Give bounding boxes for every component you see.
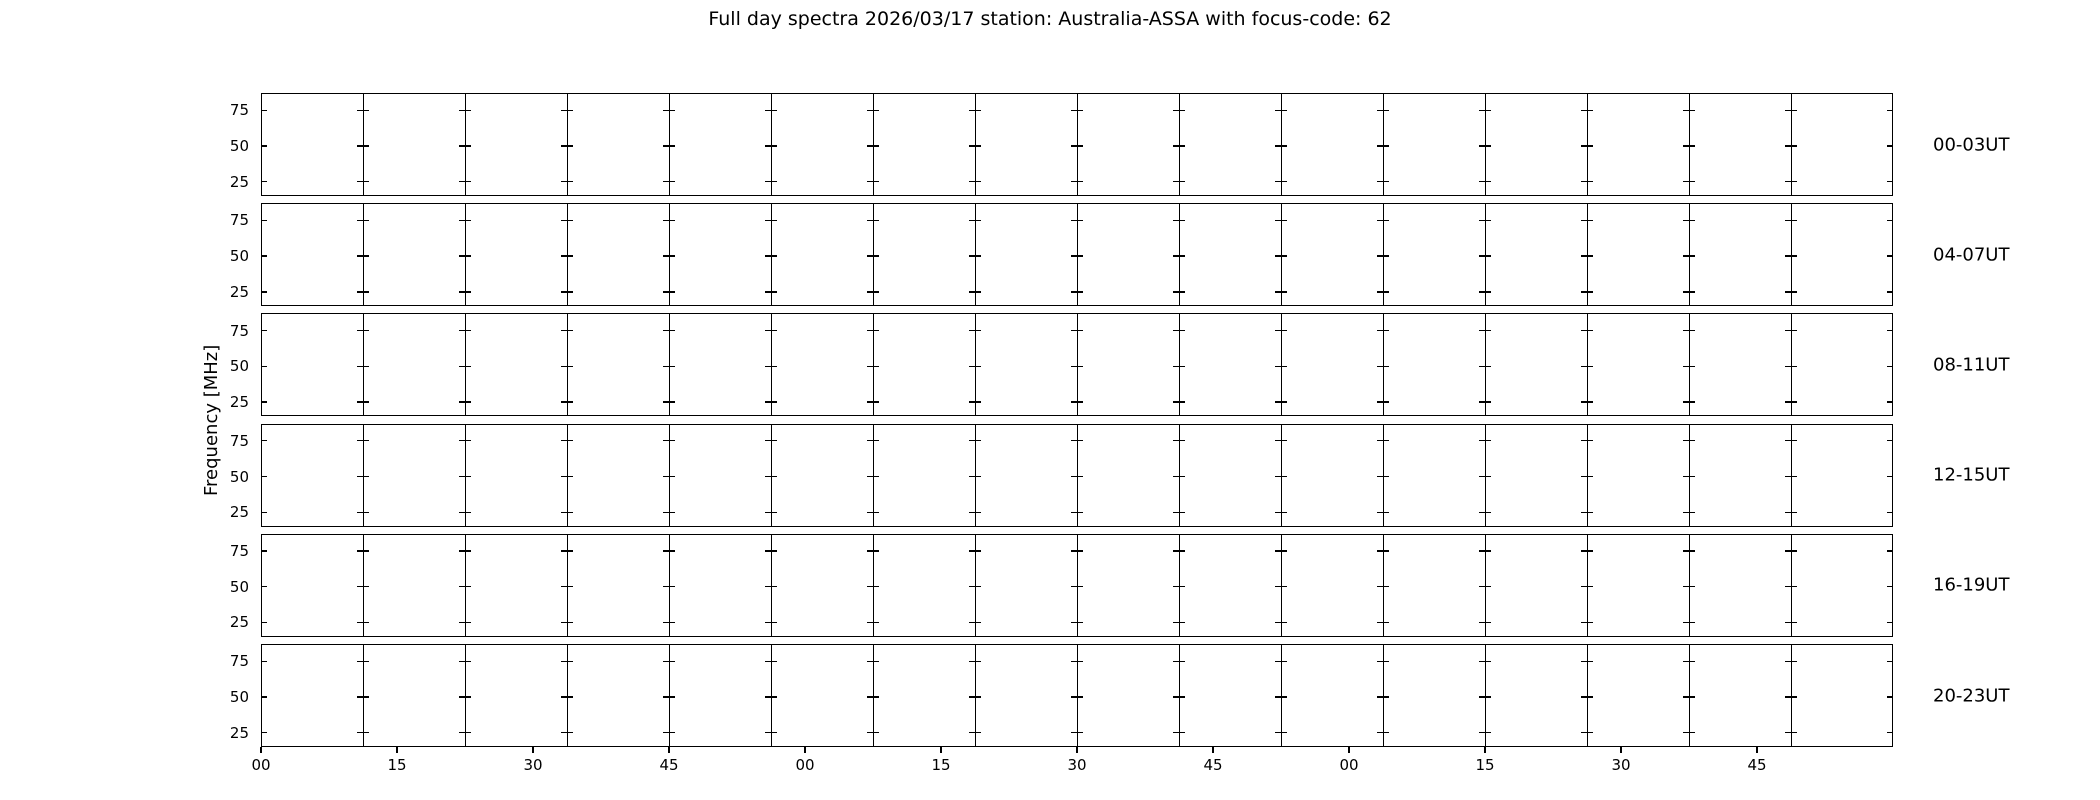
- y-tick-mark: [669, 181, 675, 182]
- spectrogram-panel[interactable]: [1383, 424, 1485, 527]
- spectrogram-panel[interactable]: [1587, 534, 1689, 637]
- y-tick-mark: [1077, 145, 1083, 146]
- y-tick-mark: [567, 622, 573, 623]
- y-tick-mark: [873, 550, 879, 551]
- row-label-00-03ut: 00-03UT: [1933, 134, 2009, 155]
- y-tick-mark: [669, 696, 675, 697]
- x-tick-label: 15: [387, 756, 406, 774]
- y-tick-mark: [1887, 732, 1893, 733]
- spectrogram-panel[interactable]: [567, 534, 669, 637]
- spectrogram-panel[interactable]: [1485, 534, 1587, 637]
- y-tick-mark: [1179, 401, 1185, 402]
- spectrogram-figure: Full day spectra 2026/03/17 station: Aus…: [0, 0, 2100, 800]
- y-tick-mark: [1581, 476, 1587, 477]
- y-tick-mark: [1887, 401, 1893, 402]
- y-tick-label: 50: [203, 247, 249, 265]
- y-tick-mark: [357, 401, 363, 402]
- y-tick-mark: [1275, 622, 1281, 623]
- y-tick-mark: [1173, 291, 1179, 292]
- spectrogram-panel[interactable]: [975, 93, 1077, 196]
- y-tick-mark: [1689, 440, 1695, 441]
- y-tick-mark: [1275, 586, 1281, 587]
- y-tick-mark: [1485, 181, 1491, 182]
- y-tick-mark: [1377, 255, 1383, 256]
- y-tick-mark: [975, 440, 981, 441]
- y-tick-mark: [1275, 696, 1281, 697]
- y-tick-mark: [1071, 366, 1077, 367]
- y-tick-mark: [969, 622, 975, 623]
- y-tick-mark: [1485, 512, 1491, 513]
- spectrogram-panel[interactable]: [1689, 203, 1791, 306]
- x-tick-mark: [260, 747, 261, 753]
- y-tick-mark: [465, 330, 471, 331]
- spectrogram-panel[interactable]: [567, 424, 669, 527]
- y-tick-mark: [771, 696, 777, 697]
- spectrogram-panel[interactable]: [1077, 203, 1179, 306]
- y-tick-mark: [1887, 181, 1893, 182]
- spectrogram-panel[interactable]: [1791, 203, 1893, 306]
- x-tick-mark: [940, 747, 941, 753]
- spectrogram-panel[interactable]: [1485, 313, 1587, 416]
- y-tick-mark: [1479, 220, 1485, 221]
- spectrogram-panel[interactable]: [1179, 203, 1281, 306]
- y-tick-mark: [765, 330, 771, 331]
- spectrogram-panel[interactable]: [1791, 313, 1893, 416]
- y-tick-mark: [459, 622, 465, 623]
- spectrogram-panel[interactable]: [975, 424, 1077, 527]
- y-tick-mark: [567, 476, 573, 477]
- y-tick-mark: [1281, 291, 1287, 292]
- y-tick-mark: [1071, 732, 1077, 733]
- y-tick-mark: [969, 291, 975, 292]
- spectrogram-panel[interactable]: [465, 644, 567, 747]
- y-tick-mark: [567, 586, 573, 587]
- spectrogram-panel[interactable]: [771, 424, 873, 527]
- y-tick-mark: [357, 366, 363, 367]
- spectrogram-panel[interactable]: [975, 313, 1077, 416]
- y-tick-mark: [867, 586, 873, 587]
- y-tick-mark: [465, 622, 471, 623]
- y-tick-mark: [1275, 255, 1281, 256]
- spectrogram-panel[interactable]: [363, 313, 465, 416]
- y-tick-mark: [1377, 696, 1383, 697]
- y-tick-mark: [669, 732, 675, 733]
- spectrogram-panel[interactable]: [669, 93, 771, 196]
- spectrogram-panel[interactable]: [567, 313, 669, 416]
- spectrogram-panel[interactable]: [669, 203, 771, 306]
- spectrogram-panel[interactable]: [1587, 313, 1689, 416]
- y-tick-mark: [357, 512, 363, 513]
- y-tick-label: 25: [203, 283, 249, 301]
- spectrogram-panel[interactable]: [1383, 313, 1485, 416]
- y-tick-mark: [1887, 255, 1893, 256]
- y-tick-mark: [975, 255, 981, 256]
- spectrogram-panel[interactable]: [771, 644, 873, 747]
- spectrogram-panel[interactable]: [1587, 644, 1689, 747]
- spectrogram-panel[interactable]: [363, 93, 465, 196]
- spectrogram-panel[interactable]: [1077, 424, 1179, 527]
- spectrogram-panel[interactable]: [669, 424, 771, 527]
- y-tick-mark: [663, 255, 669, 256]
- spectrogram-panel[interactable]: [1281, 424, 1383, 527]
- y-tick-mark: [1785, 255, 1791, 256]
- y-tick-mark: [1887, 330, 1893, 331]
- y-tick-mark: [669, 255, 675, 256]
- spectrogram-panel[interactable]: [771, 534, 873, 637]
- spectrogram-panel[interactable]: [1791, 534, 1893, 637]
- y-tick-mark: [1275, 401, 1281, 402]
- y-tick-mark: [1377, 661, 1383, 662]
- y-tick-mark: [867, 512, 873, 513]
- y-tick-mark: [1377, 586, 1383, 587]
- y-tick-mark: [1785, 440, 1791, 441]
- y-tick-mark: [561, 550, 567, 551]
- spectrogram-panel[interactable]: [1179, 313, 1281, 416]
- y-tick-mark: [1791, 145, 1797, 146]
- spectrogram-panel[interactable]: [1485, 93, 1587, 196]
- y-tick-mark: [459, 145, 465, 146]
- y-tick-mark: [975, 181, 981, 182]
- spectrogram-panel[interactable]: [261, 644, 363, 747]
- y-tick-mark: [873, 661, 879, 662]
- spectrogram-panel[interactable]: [261, 203, 363, 306]
- y-tick-mark: [465, 440, 471, 441]
- y-tick-mark: [1281, 622, 1287, 623]
- x-tick-label: 30: [523, 756, 542, 774]
- y-tick-mark: [663, 732, 669, 733]
- spectrogram-panel[interactable]: [1281, 534, 1383, 637]
- y-tick-mark: [1377, 145, 1383, 146]
- spectrogram-panel[interactable]: [363, 424, 465, 527]
- y-tick-mark: [975, 330, 981, 331]
- spectrogram-panel[interactable]: [975, 203, 1077, 306]
- y-tick-mark: [867, 145, 873, 146]
- y-tick-mark: [1173, 732, 1179, 733]
- y-tick-mark: [1275, 110, 1281, 111]
- spectrogram-panel[interactable]: [465, 313, 567, 416]
- y-tick-mark: [873, 181, 879, 182]
- y-tick-mark: [465, 661, 471, 662]
- y-tick-mark: [1479, 110, 1485, 111]
- y-tick-mark: [669, 476, 675, 477]
- spectrogram-panel[interactable]: [771, 93, 873, 196]
- spectrogram-panel[interactable]: [465, 424, 567, 527]
- y-tick-mark: [1383, 550, 1389, 551]
- spectrogram-panel[interactable]: [771, 313, 873, 416]
- spectrogram-panel[interactable]: [1383, 203, 1485, 306]
- spectrogram-panel[interactable]: [873, 644, 975, 747]
- y-tick-mark: [765, 476, 771, 477]
- spectrogram-panel[interactable]: [1077, 93, 1179, 196]
- y-tick-mark: [1383, 696, 1389, 697]
- y-tick-mark: [459, 696, 465, 697]
- spectrogram-panel[interactable]: [669, 313, 771, 416]
- y-tick-mark: [1383, 586, 1389, 587]
- spectrogram-panel[interactable]: [1689, 424, 1791, 527]
- spectrogram-panel[interactable]: [1791, 644, 1893, 747]
- row-label-08-11ut: 08-11UT: [1933, 354, 2009, 375]
- spectrogram-panel[interactable]: [465, 534, 567, 637]
- y-tick-mark: [357, 145, 363, 146]
- spectrogram-panel[interactable]: [1791, 424, 1893, 527]
- y-tick-mark: [1077, 291, 1083, 292]
- spectrogram-panel[interactable]: [261, 313, 363, 416]
- spectrogram-panel[interactable]: [1689, 93, 1791, 196]
- y-tick-mark: [1689, 732, 1695, 733]
- spectrogram-panel[interactable]: [771, 203, 873, 306]
- spectrogram-panel[interactable]: [1179, 534, 1281, 637]
- y-tick-mark: [975, 512, 981, 513]
- y-tick-mark: [459, 512, 465, 513]
- y-tick-mark: [1785, 512, 1791, 513]
- y-tick-mark: [1791, 255, 1797, 256]
- spectrogram-panel[interactable]: [1587, 203, 1689, 306]
- spectrogram-panel[interactable]: [1077, 534, 1179, 637]
- y-tick-mark: [873, 476, 879, 477]
- y-tick-mark: [1689, 550, 1695, 551]
- y-tick-mark: [873, 696, 879, 697]
- y-tick-mark: [1281, 732, 1287, 733]
- spectrogram-panel[interactable]: [1281, 644, 1383, 747]
- y-tick-mark: [1485, 255, 1491, 256]
- spectrogram-panel[interactable]: [1383, 534, 1485, 637]
- spectrogram-panel[interactable]: [1077, 313, 1179, 416]
- y-tick-mark: [1077, 110, 1083, 111]
- y-tick-mark: [663, 696, 669, 697]
- y-tick-mark: [1179, 512, 1185, 513]
- y-tick-mark: [1173, 181, 1179, 182]
- y-tick-mark: [765, 255, 771, 256]
- y-tick-mark: [459, 401, 465, 402]
- y-tick-mark: [459, 291, 465, 292]
- y-tick-mark: [1683, 586, 1689, 587]
- spectrogram-panel[interactable]: [1281, 313, 1383, 416]
- y-tick-mark: [1689, 512, 1695, 513]
- spectrogram-panel[interactable]: [873, 93, 975, 196]
- y-tick-mark: [1377, 181, 1383, 182]
- y-tick-mark: [1791, 586, 1797, 587]
- y-tick-mark: [567, 512, 573, 513]
- y-tick-mark: [1689, 291, 1695, 292]
- y-tick-mark: [561, 586, 567, 587]
- y-tick-mark: [663, 401, 669, 402]
- y-tick-mark: [969, 330, 975, 331]
- y-tick-mark: [975, 696, 981, 697]
- y-tick-mark: [663, 330, 669, 331]
- y-tick-mark: [975, 732, 981, 733]
- spectrogram-panel[interactable]: [1077, 644, 1179, 747]
- x-tick-mark: [1756, 747, 1757, 753]
- spectrogram-panel[interactable]: [363, 534, 465, 637]
- spectrogram-panel[interactable]: [873, 424, 975, 527]
- y-tick-mark: [567, 661, 573, 662]
- spectrogram-panel[interactable]: [261, 424, 363, 527]
- y-tick-mark: [969, 181, 975, 182]
- spectrogram-panel[interactable]: [873, 203, 975, 306]
- spectrogram-panel[interactable]: [1485, 203, 1587, 306]
- y-tick-mark: [867, 732, 873, 733]
- y-tick-mark: [771, 366, 777, 367]
- y-tick-mark: [1281, 110, 1287, 111]
- spectrogram-panel[interactable]: [1281, 93, 1383, 196]
- spectrogram-panel[interactable]: [669, 644, 771, 747]
- y-tick-mark: [1791, 220, 1797, 221]
- spectrogram-panel[interactable]: [567, 203, 669, 306]
- y-tick-mark: [1485, 330, 1491, 331]
- y-tick-mark: [261, 366, 267, 367]
- y-tick-mark: [363, 145, 369, 146]
- y-tick-mark: [1179, 110, 1185, 111]
- y-tick-mark: [1071, 220, 1077, 221]
- spectrogram-panel[interactable]: [1689, 644, 1791, 747]
- y-tick-mark: [357, 586, 363, 587]
- y-tick-mark: [1077, 476, 1083, 477]
- y-tick-mark: [459, 661, 465, 662]
- y-tick-mark: [1281, 145, 1287, 146]
- spectrogram-panel[interactable]: [873, 534, 975, 637]
- x-tick-label: 15: [931, 756, 950, 774]
- spectrogram-panel[interactable]: [1179, 424, 1281, 527]
- y-tick-mark: [1683, 550, 1689, 551]
- y-tick-mark: [1071, 401, 1077, 402]
- y-tick-mark: [1587, 330, 1593, 331]
- spectrogram-panel[interactable]: [465, 93, 567, 196]
- y-tick-mark: [1581, 181, 1587, 182]
- y-tick-mark: [1683, 512, 1689, 513]
- x-tick-mark: [1348, 747, 1349, 753]
- y-tick-mark: [663, 586, 669, 587]
- y-tick-mark: [567, 696, 573, 697]
- y-tick-mark: [1791, 330, 1797, 331]
- spectrogram-panel[interactable]: [1689, 534, 1791, 637]
- y-tick-mark: [975, 476, 981, 477]
- y-tick-mark: [1581, 145, 1587, 146]
- y-tick-mark: [1689, 145, 1695, 146]
- y-tick-mark: [867, 622, 873, 623]
- y-tick-mark: [1479, 330, 1485, 331]
- y-tick-mark: [1485, 110, 1491, 111]
- y-tick-mark: [1179, 732, 1185, 733]
- y-tick-mark: [1383, 622, 1389, 623]
- spectrogram-panel[interactable]: [261, 534, 363, 637]
- y-tick-mark: [1179, 220, 1185, 221]
- y-tick-label: 25: [203, 613, 249, 631]
- y-tick-mark: [561, 661, 567, 662]
- y-tick-mark: [459, 476, 465, 477]
- y-tick-mark: [465, 220, 471, 221]
- y-tick-mark: [969, 732, 975, 733]
- x-tick-label: 00: [251, 756, 270, 774]
- y-tick-mark: [1071, 440, 1077, 441]
- spectrogram-panel[interactable]: [1383, 93, 1485, 196]
- y-tick-mark: [1791, 291, 1797, 292]
- y-tick-mark: [1785, 181, 1791, 182]
- x-tick-mark: [532, 747, 533, 753]
- y-tick-mark: [1281, 440, 1287, 441]
- y-tick-mark: [1077, 366, 1083, 367]
- y-tick-mark: [765, 732, 771, 733]
- y-tick-mark: [465, 255, 471, 256]
- y-tick-mark: [1173, 220, 1179, 221]
- y-tick-mark: [1275, 550, 1281, 551]
- y-tick-mark: [1377, 110, 1383, 111]
- y-tick-mark: [1587, 440, 1593, 441]
- y-tick-mark: [765, 291, 771, 292]
- y-tick-mark: [1485, 476, 1491, 477]
- row-label-16-19ut: 16-19UT: [1933, 575, 2009, 596]
- spectrogram-panel[interactable]: [975, 644, 1077, 747]
- spectrogram-panel[interactable]: [975, 534, 1077, 637]
- spectrogram-panel[interactable]: [363, 203, 465, 306]
- y-tick-mark: [1377, 550, 1383, 551]
- spectrogram-panel[interactable]: [567, 93, 669, 196]
- spectrogram-panel[interactable]: [261, 93, 363, 196]
- spectrogram-panel[interactable]: [1383, 644, 1485, 747]
- y-tick-mark: [1581, 220, 1587, 221]
- spectrogram-panel[interactable]: [465, 203, 567, 306]
- y-tick-mark: [873, 512, 879, 513]
- y-tick-mark: [261, 661, 267, 662]
- y-tick-mark: [1689, 696, 1695, 697]
- spectrogram-panel[interactable]: [1689, 313, 1791, 416]
- y-tick-mark: [1383, 220, 1389, 221]
- y-tick-mark: [1785, 476, 1791, 477]
- y-tick-mark: [363, 622, 369, 623]
- y-tick-mark: [1179, 586, 1185, 587]
- spectrogram-panel[interactable]: [1179, 93, 1281, 196]
- spectrogram-panel[interactable]: [1281, 203, 1383, 306]
- y-tick-mark: [1275, 366, 1281, 367]
- spectrogram-panel[interactable]: [1791, 93, 1893, 196]
- spectrogram-panel[interactable]: [1587, 424, 1689, 527]
- y-tick-mark: [261, 696, 267, 697]
- spectrogram-panel[interactable]: [873, 313, 975, 416]
- y-tick-mark: [1179, 181, 1185, 182]
- spectrogram-panel[interactable]: [669, 534, 771, 637]
- y-tick-mark: [1581, 512, 1587, 513]
- y-tick-mark: [1581, 291, 1587, 292]
- y-tick-mark: [1581, 550, 1587, 551]
- y-tick-mark: [561, 622, 567, 623]
- y-tick-mark: [1485, 586, 1491, 587]
- y-tick-mark: [1485, 366, 1491, 367]
- y-tick-mark: [1377, 512, 1383, 513]
- spectrogram-panel[interactable]: [1485, 424, 1587, 527]
- y-tick-mark: [1479, 145, 1485, 146]
- y-tick-mark: [1377, 440, 1383, 441]
- y-tick-mark: [873, 145, 879, 146]
- y-tick-mark: [1077, 220, 1083, 221]
- y-tick-mark: [357, 661, 363, 662]
- spectrogram-panel[interactable]: [1587, 93, 1689, 196]
- spectrogram-panel[interactable]: [567, 644, 669, 747]
- y-tick-mark: [975, 401, 981, 402]
- y-tick-mark: [561, 696, 567, 697]
- x-tick-label: 00: [795, 756, 814, 774]
- y-tick-mark: [1377, 330, 1383, 331]
- spectrogram-panel[interactable]: [1485, 644, 1587, 747]
- y-tick-mark: [1689, 366, 1695, 367]
- spectrogram-panel[interactable]: [1179, 644, 1281, 747]
- spectrogram-panel[interactable]: [363, 644, 465, 747]
- y-tick-mark: [873, 366, 879, 367]
- y-tick-mark: [1887, 291, 1893, 292]
- y-tick-mark: [1689, 110, 1695, 111]
- y-tick-mark: [771, 291, 777, 292]
- y-tick-mark: [567, 550, 573, 551]
- y-tick-mark: [1587, 220, 1593, 221]
- y-tick-mark: [1485, 291, 1491, 292]
